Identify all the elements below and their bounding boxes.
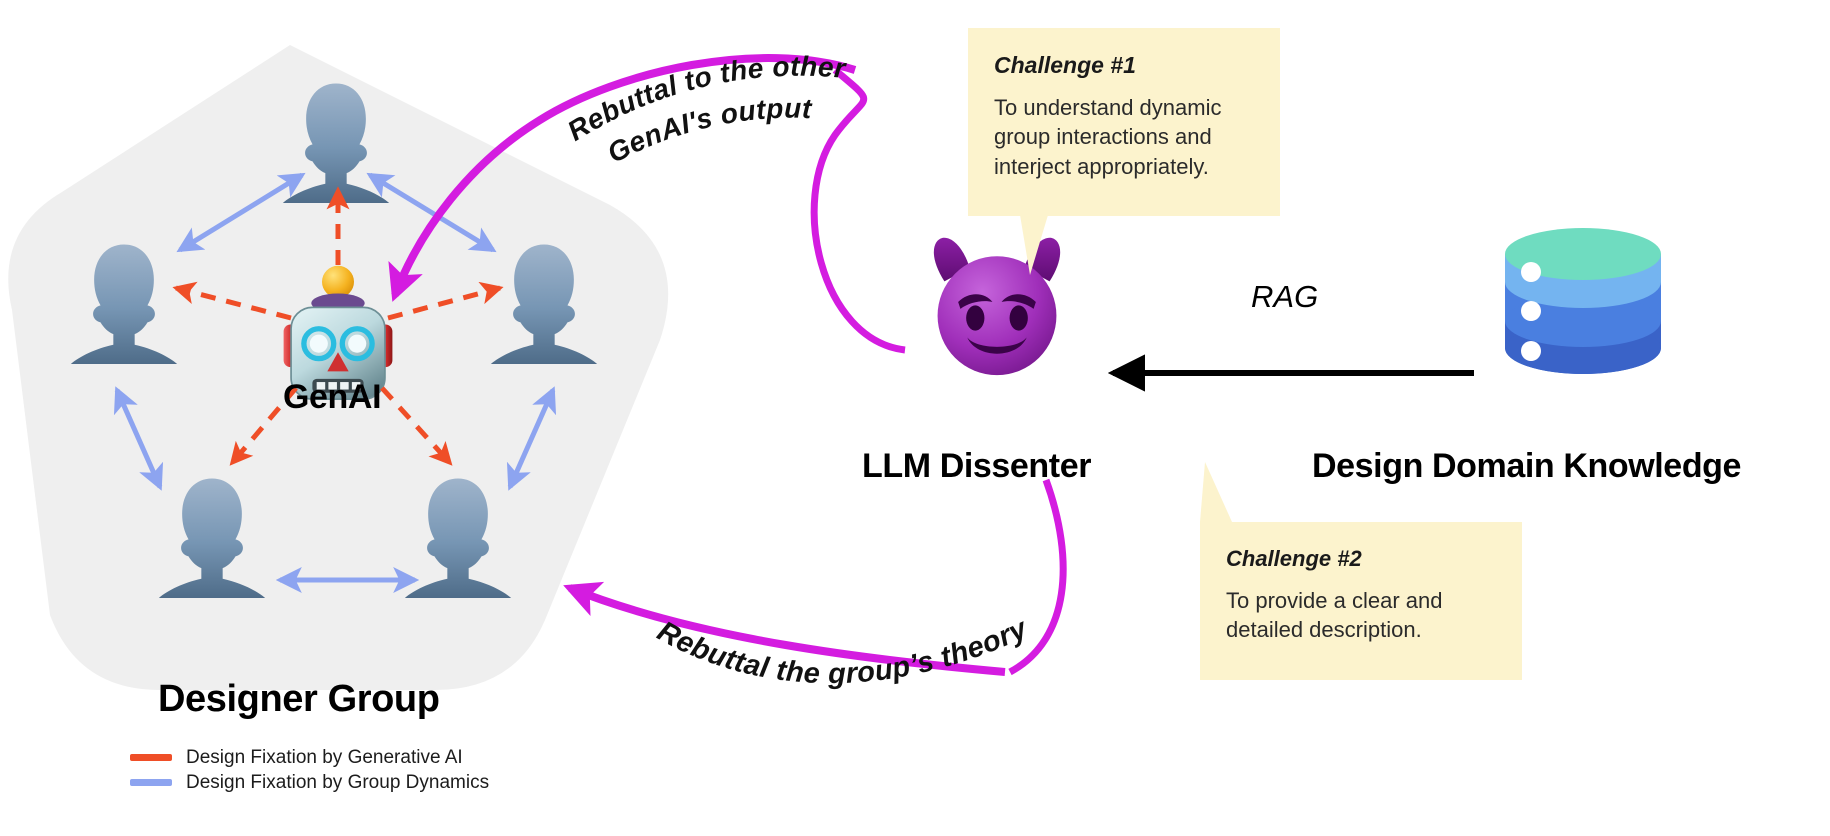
designer-group-label: Designer Group: [158, 678, 440, 721]
legend-item-genai-fixation: Design Fixation by Generative AI: [130, 745, 489, 770]
text-layer: Designer Group GenAI LLM Dissenter Desig…: [0, 0, 1830, 836]
design-domain-knowledge-label: Design Domain Knowledge: [1312, 447, 1741, 486]
legend-label-genai-fixation: Design Fixation by Generative AI: [186, 747, 463, 769]
diagram-canvas: Rebuttal to the other GenAI's output Reb…: [0, 0, 1830, 836]
genai-label: GenAI: [283, 378, 381, 417]
legend-item-group-fixation: Design Fixation by Group Dynamics: [130, 770, 489, 795]
llm-dissenter-label: LLM Dissenter: [862, 447, 1091, 486]
legend-label-group-fixation: Design Fixation by Group Dynamics: [186, 772, 489, 794]
legend-swatch-orange: [130, 754, 172, 761]
callout-challenge-2-body: To provide a clear and detailed descript…: [1226, 586, 1496, 645]
callout-challenge-1-title: Challenge #1: [994, 52, 1254, 79]
callout-challenge-2: Challenge #2 To provide a clear and deta…: [1200, 522, 1522, 680]
callout-challenge-2-title: Challenge #2: [1226, 546, 1496, 572]
legend: Design Fixation by Generative AI Design …: [130, 745, 489, 795]
legend-swatch-blue: [130, 779, 172, 786]
callout-challenge-1-body: To understand dynamic group interactions…: [994, 93, 1254, 181]
callout-challenge-1: Challenge #1 To understand dynamic group…: [968, 28, 1280, 216]
rag-edge-label: RAG: [1251, 279, 1318, 315]
